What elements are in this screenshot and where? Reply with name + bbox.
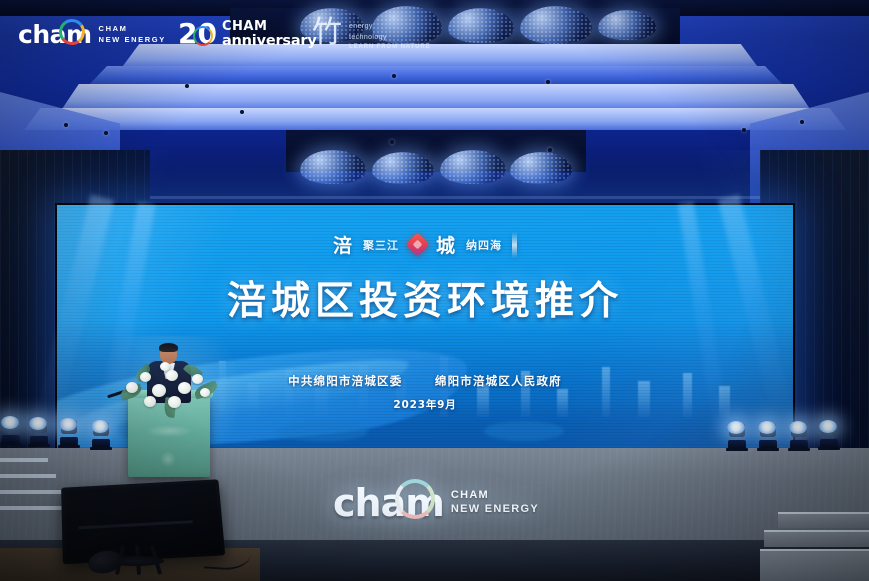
slogan-left-big: 涪 <box>333 231 353 258</box>
slogan-right-small: 纳四海 <box>466 237 502 253</box>
bamboo-logo: 竹 energy technology LEARN FROM NATURE <box>312 18 431 52</box>
moving-head-light <box>726 421 748 451</box>
cham-tagline-line1: CHAM <box>99 24 166 34</box>
slogan-divider <box>512 232 517 258</box>
stage-logo-tagline-line2: NEW ENERGY <box>451 503 539 517</box>
cham-tagline: CHAM NEW ENERGY <box>99 24 166 44</box>
fucheng-emblem-icon <box>405 232 429 256</box>
bamboo-glyph-icon: 竹 <box>312 18 342 48</box>
moving-head-light <box>90 420 112 450</box>
floral-arrangement <box>116 360 221 416</box>
bamboo-line1: energy <box>349 22 431 33</box>
cham-logo: cham CHAM NEW ENERGY <box>18 22 166 47</box>
anniversary-logo: 20 CHAM anniversary <box>178 20 317 49</box>
anniversary-text: CHAM anniversary <box>222 20 317 49</box>
anniversary-line1: CHAM <box>222 20 317 34</box>
credit-left: 中共绵阳市涪城区委 <box>288 374 402 388</box>
conference-stage-photo: cham CHAM NEW ENERGY 20 CHAM anniversary… <box>0 0 869 581</box>
stage-stairs-left <box>0 452 66 528</box>
stage-logo-ring-icon <box>395 479 435 519</box>
slogan-right-big: 城 <box>436 231 456 258</box>
moving-head-light <box>818 420 840 450</box>
moving-head-light <box>58 418 80 448</box>
moving-head-light <box>0 416 22 446</box>
anniversary-ring-icon <box>193 26 213 46</box>
stage-front-cham-logo: cham CHAM NEW ENERGY <box>333 484 539 522</box>
slogan-left-small: 聚三江 <box>363 237 399 253</box>
stage-logo-tagline-line1: CHAM <box>451 489 539 503</box>
header-logo-bar: cham CHAM NEW ENERGY 20 CHAM anniversary… <box>0 0 869 72</box>
stage-logo-tagline: CHAM NEW ENERGY <box>451 489 539 517</box>
cham-ring-icon <box>59 19 85 45</box>
bamboo-line3: LEARN FROM NATURE <box>349 43 431 52</box>
moving-head-light <box>757 421 779 451</box>
moving-head-light <box>28 417 50 447</box>
moving-head-light <box>788 421 810 451</box>
bamboo-text: energy technology LEARN FROM NATURE <box>349 22 431 52</box>
anniversary-line2: anniversary <box>222 34 317 49</box>
cham-tagline-line2: NEW ENERGY <box>99 35 166 45</box>
bamboo-line2: technology <box>349 33 431 44</box>
slide-slogan: 涪 聚三江 城 纳四海 <box>333 231 517 258</box>
credit-right: 绵阳市涪城区人民政府 <box>435 374 562 388</box>
stage-stairs-right <box>760 498 869 581</box>
slide-main-title: 涪城区投资环境推介 <box>227 270 623 326</box>
